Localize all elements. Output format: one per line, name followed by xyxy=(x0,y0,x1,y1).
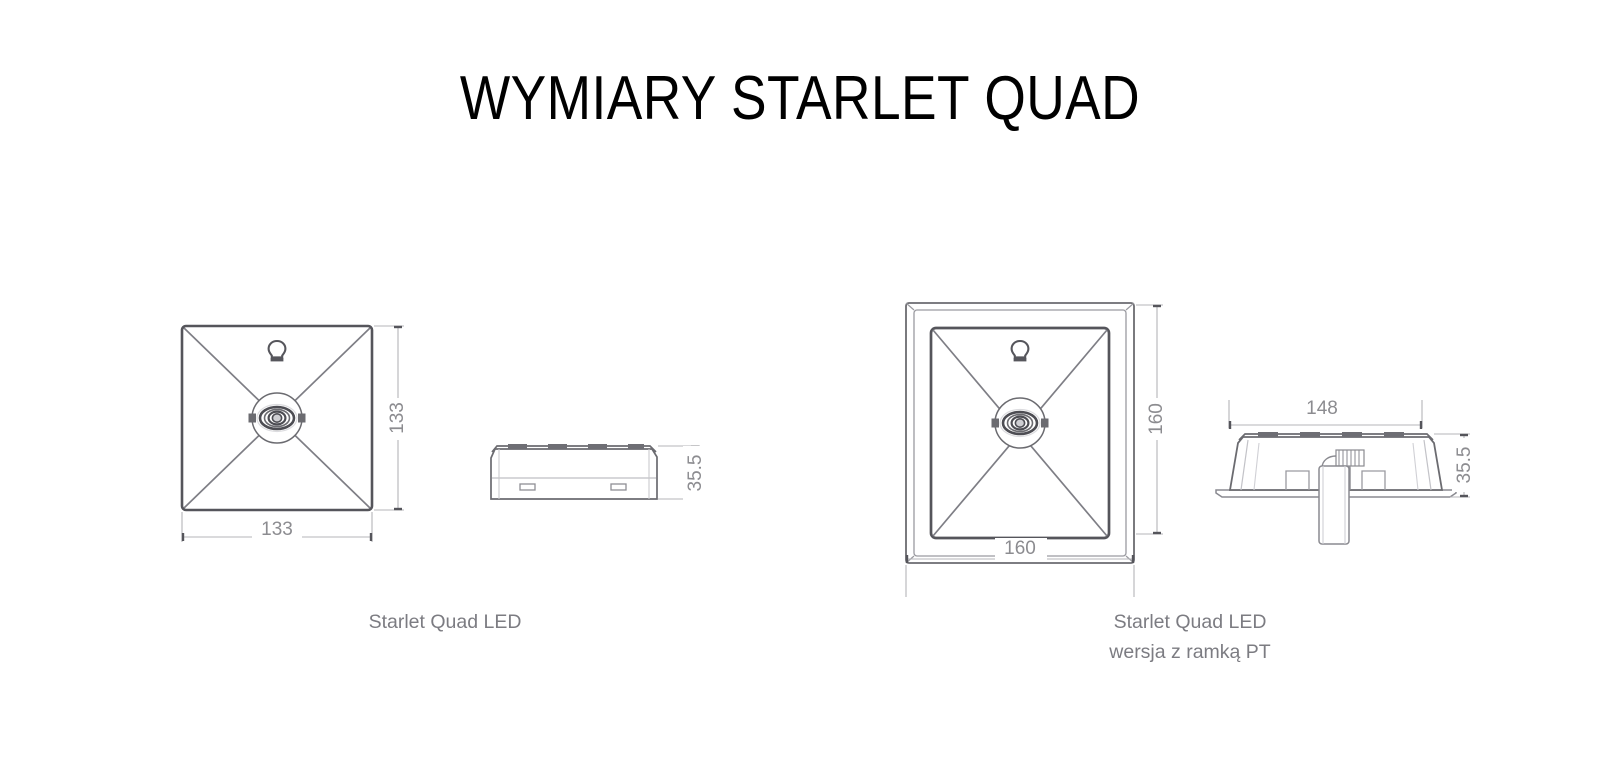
left-width-dimension: 133 xyxy=(182,512,372,542)
caption-right-figure: Starlet Quad LED wersja z ramką PT xyxy=(1025,607,1355,667)
right-side-tab xyxy=(1384,432,1404,437)
caption-right-line2: wersja z ramką PT xyxy=(1025,637,1355,667)
right-side-tab xyxy=(1258,432,1278,437)
right-side-height-dimension-label: 35.5 xyxy=(1454,447,1475,484)
left-width-dimension-label: 133 xyxy=(261,519,293,540)
right-width-dimension-label: 160 xyxy=(1004,538,1036,559)
right-height-dimension-label: 160 xyxy=(1146,403,1167,435)
left-height-dimension-label: 133 xyxy=(387,402,408,434)
left-side-height-dimension-label: 35.5 xyxy=(685,455,706,492)
caption-right-line1: Starlet Quad LED xyxy=(1025,607,1355,637)
left-side-height-dimension: 35.5 xyxy=(658,446,708,500)
caption-left-figure: Starlet Quad LED xyxy=(280,607,610,637)
right-side-width-dimension: 148 xyxy=(1229,397,1422,429)
left-height-dimension: 133 xyxy=(374,326,411,510)
left-side-body xyxy=(491,449,657,499)
right-top-view xyxy=(906,303,1134,563)
right-side-tab xyxy=(1342,432,1362,437)
left-side-tab xyxy=(588,444,607,449)
left-side-view xyxy=(491,444,657,499)
slide-canvas: WYMIARY STARLET QUAD xyxy=(0,0,1600,763)
right-side-tab xyxy=(1300,432,1320,437)
caption-left-line1: Starlet Quad LED xyxy=(280,607,610,637)
right-side-cable-gland xyxy=(1336,450,1364,466)
technical-drawing-svg: 133 133 xyxy=(0,0,1600,763)
left-side-tab xyxy=(508,444,527,449)
right-height-dimension: 160 xyxy=(1136,305,1170,534)
right-side-view xyxy=(1216,432,1456,544)
right-side-width-dimension-label: 148 xyxy=(1306,398,1338,419)
left-side-tab xyxy=(628,444,644,449)
left-top-view xyxy=(182,326,372,510)
left-side-tab xyxy=(548,444,567,449)
